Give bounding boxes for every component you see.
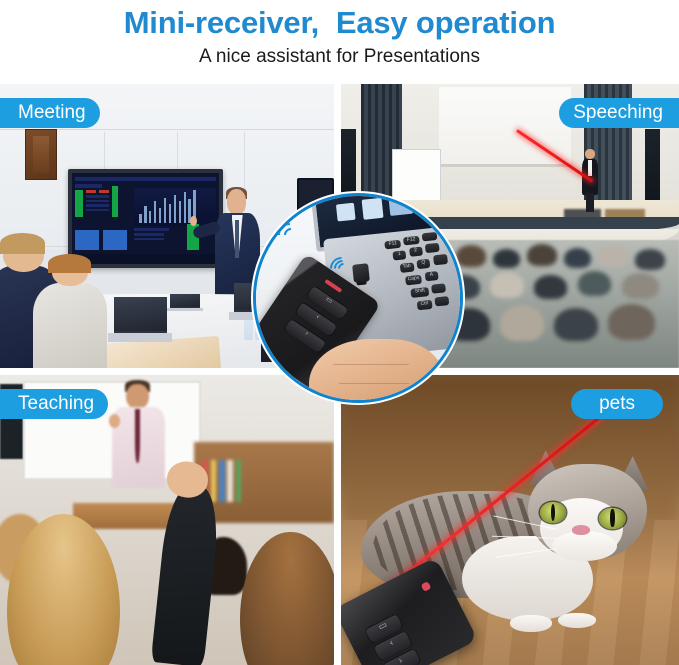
student-person — [240, 532, 334, 665]
cat-paw — [558, 613, 597, 628]
key-f11[interactable]: F11 — [385, 240, 401, 250]
key-z[interactable] — [432, 283, 446, 294]
laptop-keyboard: F11 F12 1 2 Tab Q Caps A Shift Ctrl — [369, 227, 463, 340]
key-2[interactable]: 2 — [409, 247, 423, 258]
key-q[interactable]: Q — [417, 258, 431, 269]
led-indicator — [420, 581, 431, 592]
usb-receiver-closeup-inset: F11 F12 1 2 Tab Q Caps A Shift Ctrl ▭ ‹ … — [253, 193, 463, 403]
key-caps[interactable]: Caps — [405, 274, 422, 285]
key-1[interactable]: 1 — [393, 250, 407, 261]
presentation-display — [68, 169, 223, 268]
key-a[interactable]: A — [425, 271, 439, 282]
name-plate — [170, 294, 200, 311]
led-indicator — [324, 279, 343, 294]
badge-teaching: Teaching — [0, 389, 108, 419]
badge-pets: pets — [571, 389, 663, 419]
page-title: Mini-receiver, Easy operation — [0, 2, 679, 41]
key-ins[interactable] — [422, 232, 438, 242]
scene-cell-pets[interactable]: ▭ ‹ › pets — [341, 375, 679, 665]
key-fn[interactable] — [435, 296, 449, 307]
bookshelf — [194, 442, 334, 523]
cat-paw — [510, 615, 552, 632]
badge-meeting: Meeting — [0, 98, 100, 128]
key-ctrl[interactable]: Ctrl — [417, 300, 433, 311]
key-tab[interactable]: Tab — [400, 262, 415, 273]
chart-panel — [134, 188, 216, 226]
attendee-person — [33, 283, 106, 368]
key-w[interactable] — [433, 254, 448, 265]
key-3[interactable] — [425, 243, 440, 254]
cat-eye — [599, 508, 626, 529]
page-subtitle: A nice assistant for Presentations — [0, 41, 679, 69]
speaker-tower — [645, 129, 660, 206]
wifi-waves-icon — [274, 214, 318, 258]
key-shift[interactable]: Shift — [411, 287, 429, 298]
badge-speeching: Speeching — [559, 98, 679, 128]
header-banner: Mini-receiver, Easy operation A nice ass… — [0, 0, 679, 84]
wall-wood-panel — [25, 129, 57, 179]
key-f12[interactable]: F12 — [403, 236, 419, 246]
scene-cell-teaching[interactable]: Teaching — [0, 375, 334, 665]
laptop — [114, 297, 167, 342]
cat-nose — [572, 525, 590, 535]
teacher-person — [110, 384, 167, 500]
